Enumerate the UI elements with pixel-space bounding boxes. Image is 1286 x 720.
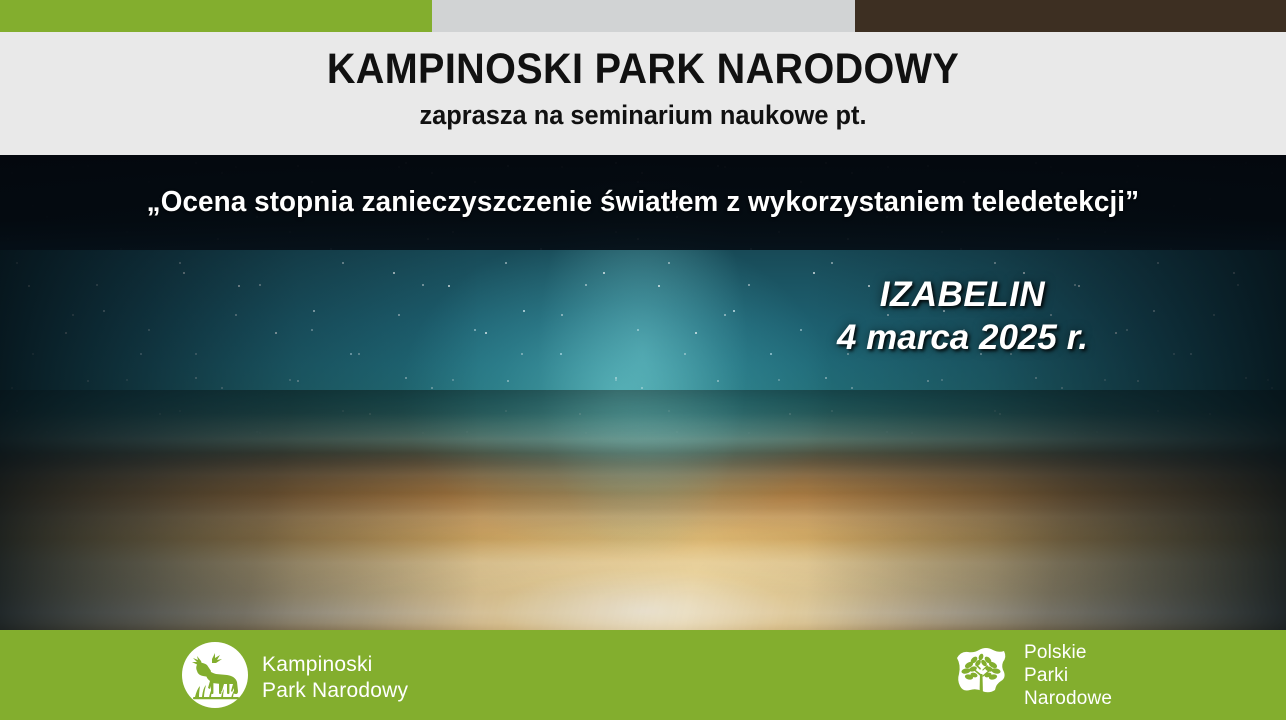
top-bar-segment-green <box>0 0 432 32</box>
seminar-title-band: „Ocena stopnia zanieczyszczenie światłem… <box>0 155 1286 250</box>
presentation-slide: KAMPINOSKI PARK NARODOWY zaprasza na sem… <box>0 0 1286 720</box>
seminar-title: „Ocena stopnia zanieczyszczenie światłem… <box>147 186 1139 219</box>
logo-polskie-parki-narodowe: Polskie Parki Narodowe <box>950 641 1112 711</box>
event-date: 4 marca 2025 r. <box>837 317 1088 360</box>
poland-outline-tree-icon <box>950 642 1012 709</box>
top-color-bar <box>0 0 1286 32</box>
logo-kampinoski-park-narodowy: Kampinoski Park Narodowy <box>181 641 408 714</box>
logo-kampinoski-line1: Kampinoski <box>262 653 373 676</box>
footer-bar: Kampinoski Park Narodowy <box>0 630 1286 720</box>
header-subtitle: zaprasza na seminarium naukowe pt. <box>39 92 1248 131</box>
logo-polskie-parki-label: Polskie Parki Narodowe <box>1024 641 1112 711</box>
top-bar-segment-gray <box>432 0 855 32</box>
elk-in-circle-icon <box>181 641 249 714</box>
logo-polskie-line2: Parki <box>1024 665 1068 686</box>
top-bar-segment-brown <box>855 0 1286 32</box>
page-title: KAMPINOSKI PARK NARODOWY <box>51 32 1234 92</box>
event-details: IZABELIN 4 marca 2025 r. <box>837 274 1088 360</box>
logo-polskie-line3: Narodowe <box>1024 688 1112 709</box>
header-panel: KAMPINOSKI PARK NARODOWY zaprasza na sem… <box>0 32 1286 155</box>
event-place: IZABELIN <box>837 274 1088 315</box>
logo-polskie-line1: Polskie <box>1024 642 1087 663</box>
logo-kampinoski-line2: Park Narodowy <box>262 679 408 702</box>
logo-kampinoski-label: Kampinoski Park Narodowy <box>262 652 408 703</box>
